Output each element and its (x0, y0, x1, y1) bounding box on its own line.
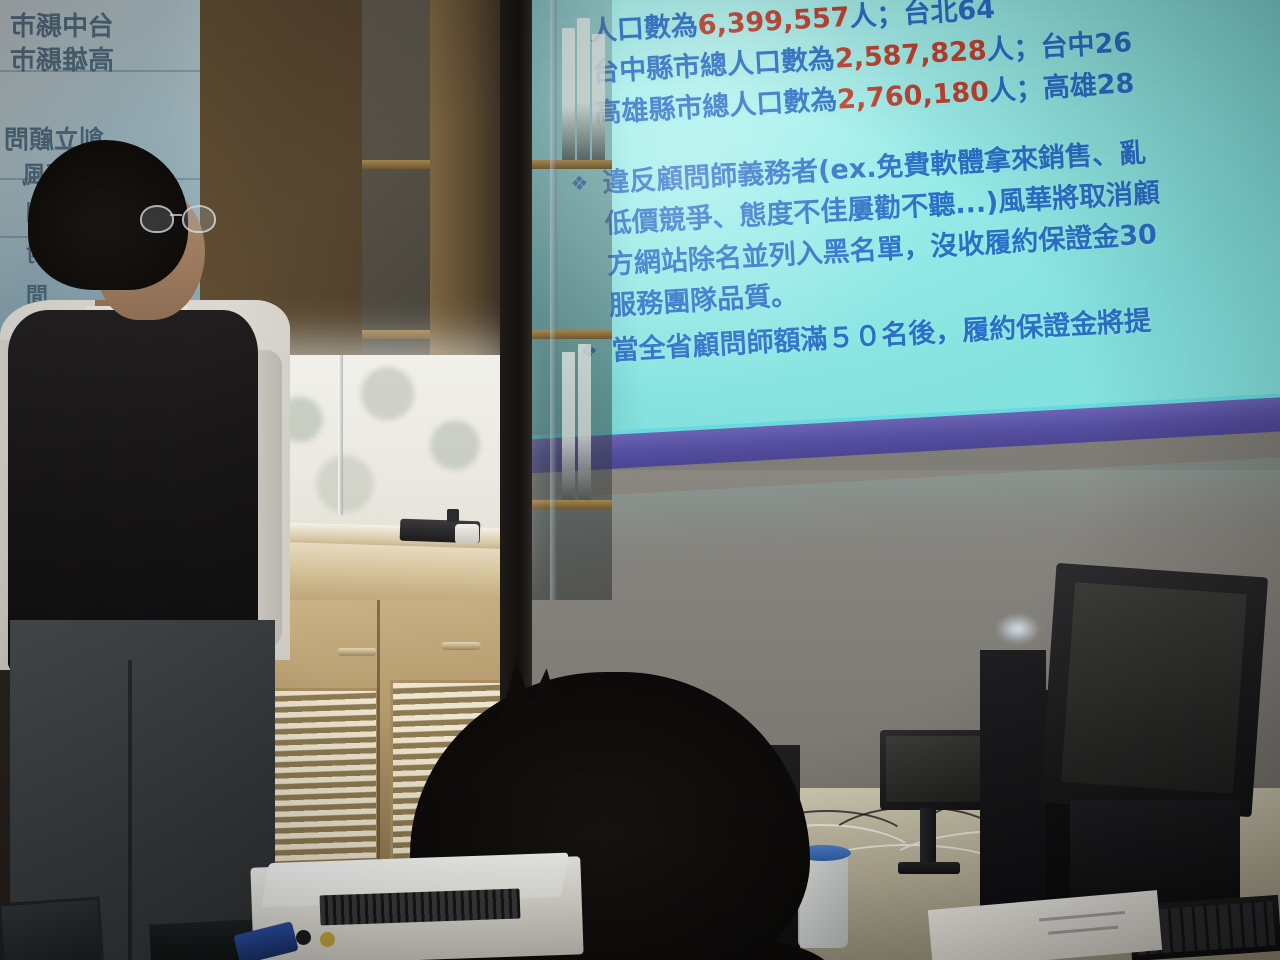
presenter-glasses (140, 205, 212, 231)
cabinet-handle-right[interactable] (441, 642, 481, 650)
paper-printed-line (1039, 911, 1125, 921)
stat-number: 2,587,828 (834, 35, 988, 74)
sill-device-knob (447, 509, 459, 522)
lcd-monitor-right-screen (1061, 582, 1247, 794)
louver-door-left[interactable] (263, 688, 379, 874)
cabinet-seam (377, 600, 380, 870)
glasses-bridge (170, 214, 182, 216)
book (578, 344, 591, 500)
cabinet-handle-left[interactable] (337, 648, 377, 656)
glasses-lens-left (140, 205, 174, 233)
sill-device-white-end (455, 524, 479, 544)
lcd-monitor-left-screen (886, 736, 984, 802)
presenter-sweater-vest (8, 310, 258, 670)
specular-highlight (996, 614, 1040, 644)
projector-port-2 (296, 930, 311, 945)
window-mullion (338, 355, 343, 515)
paper-printed-line (1048, 926, 1118, 935)
stat-suffix: 人；台北64 (849, 0, 996, 33)
poster-mirror-line-2: 高雄縣市 (10, 40, 114, 77)
stat-number: 6,399,557 (697, 2, 851, 41)
photo-scene: 人口數為6,399,557人；台北64 台中縣市總人口數為2,587,828人；… (0, 0, 1280, 960)
book (562, 28, 575, 160)
laptop-screen (0, 897, 104, 960)
dark-vertical-post (500, 0, 532, 720)
book (562, 352, 575, 500)
book (592, 34, 605, 160)
glasses-lens-right (182, 205, 216, 233)
book (577, 18, 590, 160)
stat-suffix: 人；高雄28 (988, 68, 1135, 107)
lcd-monitor-left-base (898, 862, 960, 874)
stat-label: 高雄縣市總人口數為 (594, 85, 838, 130)
poster-mirror-line-1: 台中縣市 (10, 6, 114, 43)
lcd-monitor-left-stand (920, 808, 936, 868)
stat-suffix: 人；台中26 (986, 27, 1133, 66)
bookcase-mullion (550, 0, 557, 600)
stat-number: 2,760,180 (836, 76, 990, 115)
projector-port-3 (320, 932, 335, 947)
computer-tower (980, 650, 1046, 940)
trouser-crease (128, 660, 132, 960)
